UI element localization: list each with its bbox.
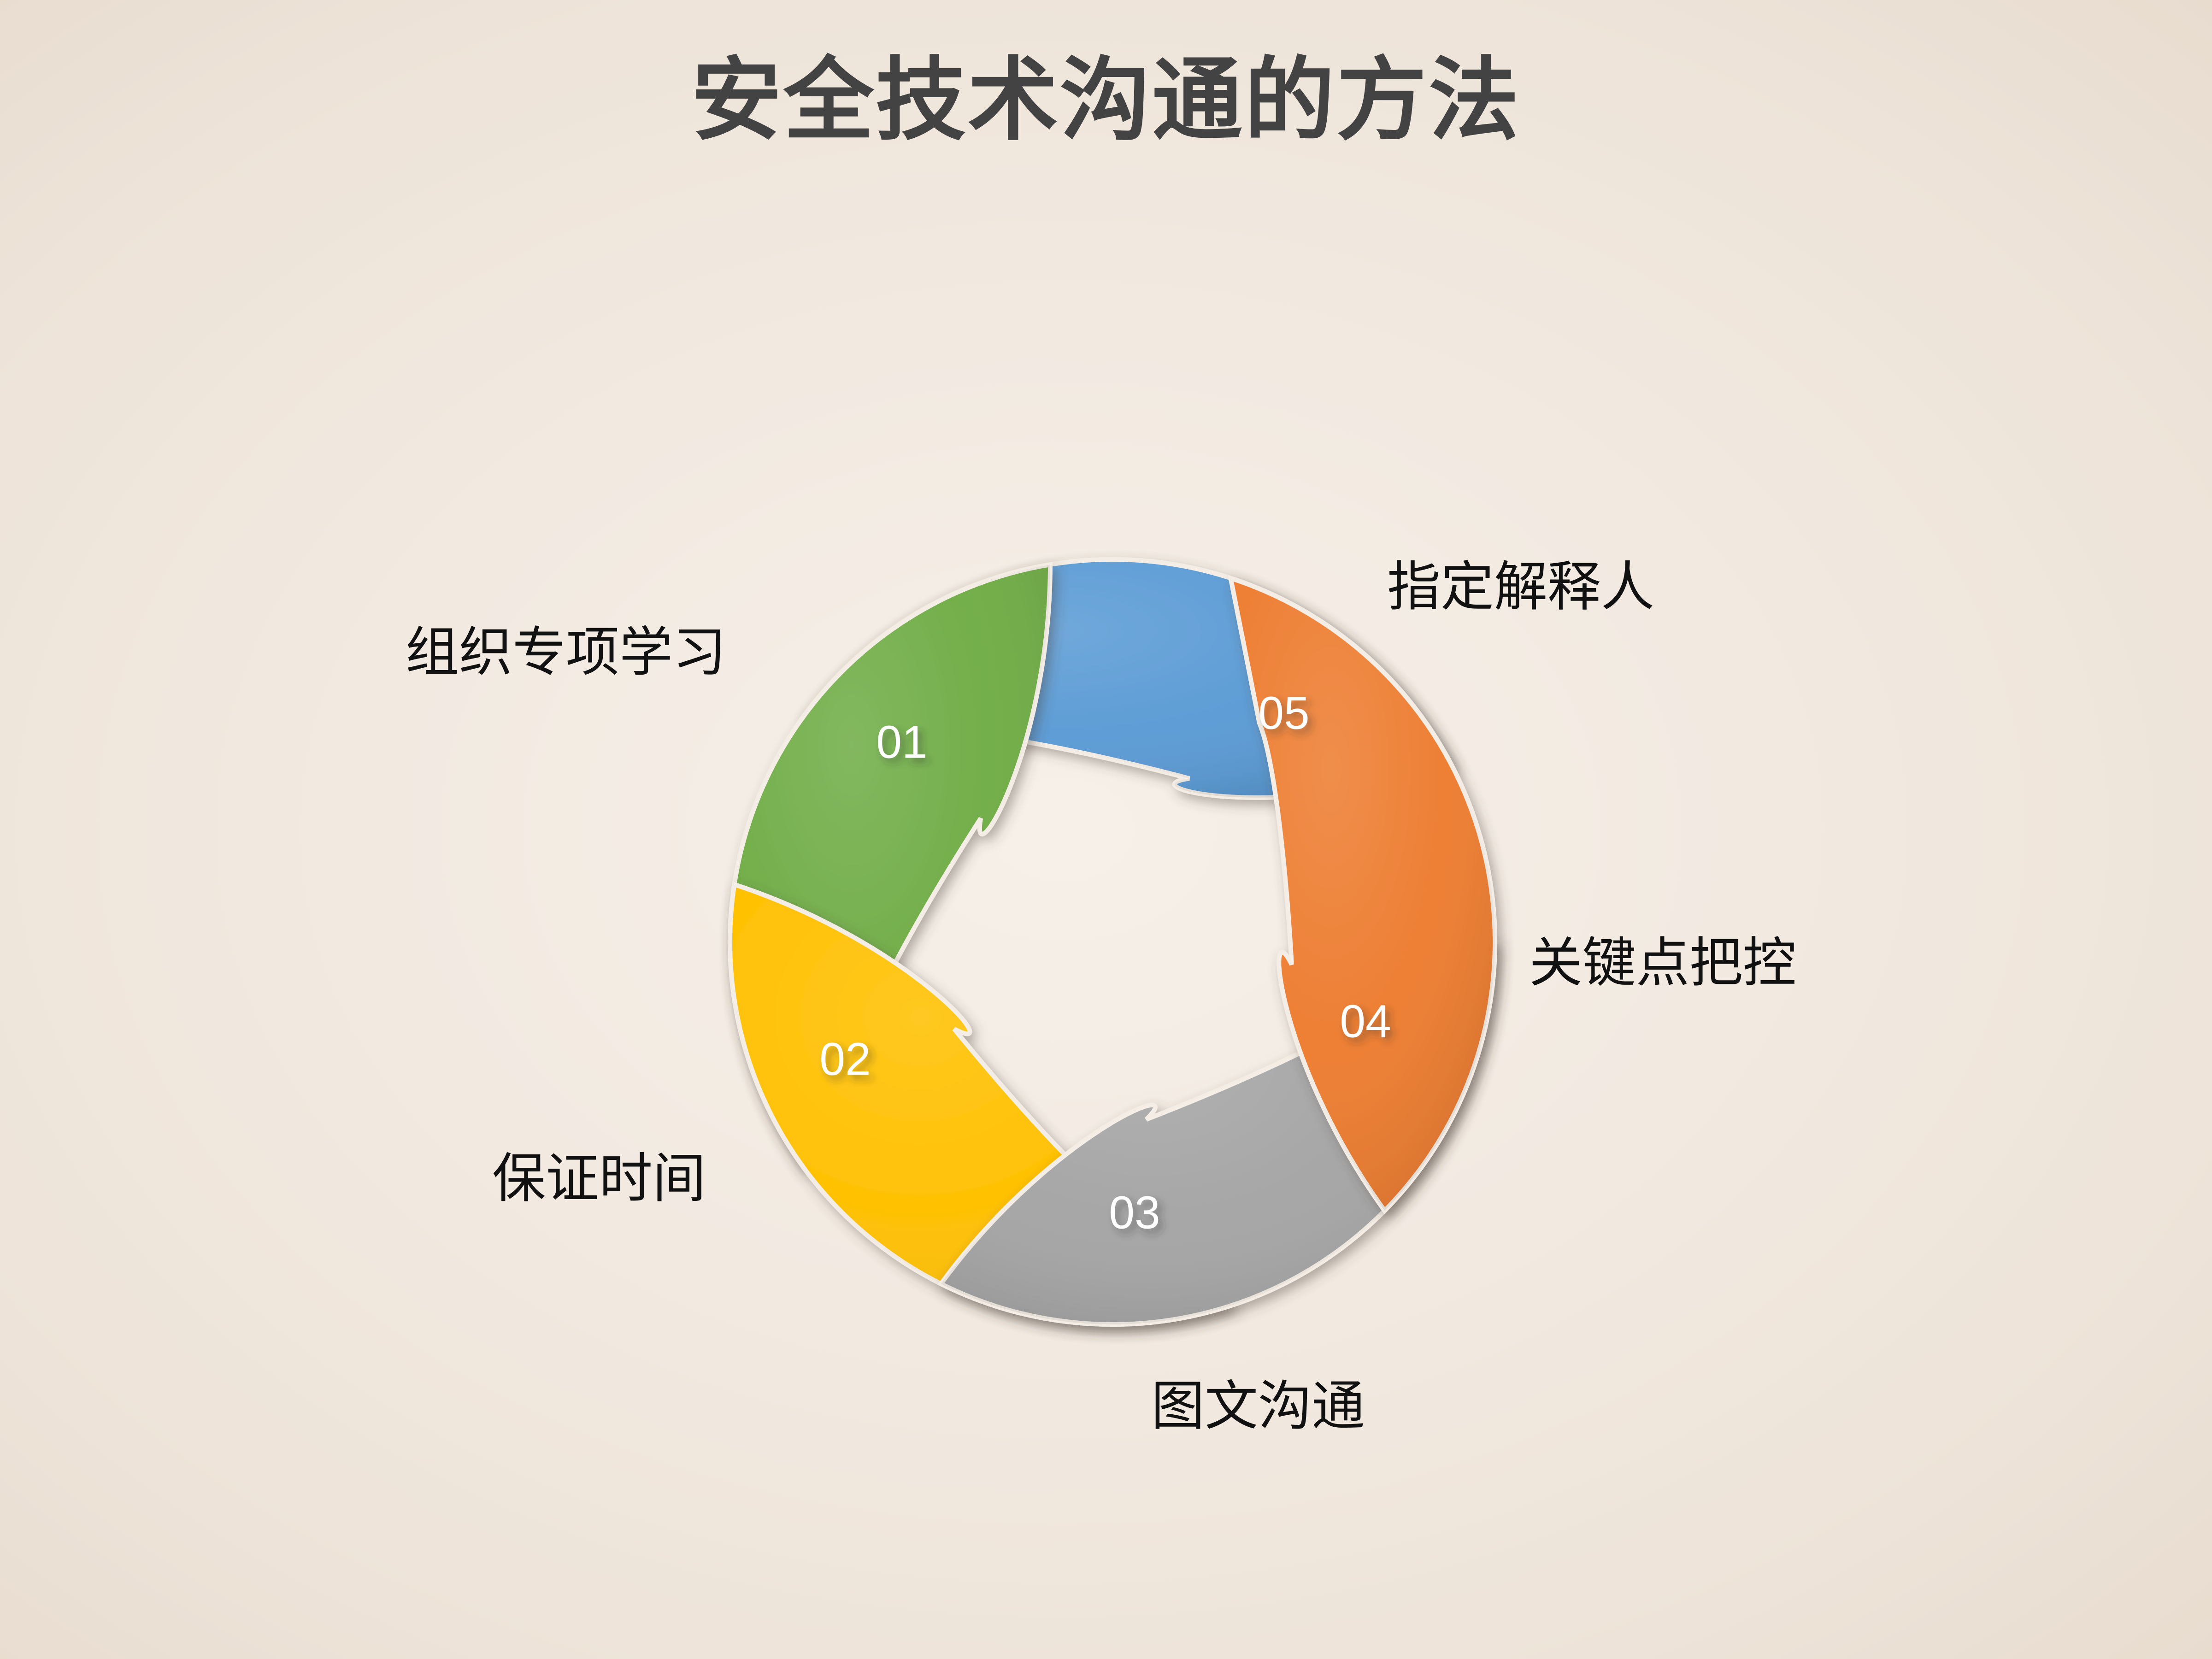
segment-label-05: 指定解释人 (1387, 558, 1654, 617)
page-title: 安全技术沟通的方法 (0, 53, 2212, 148)
segment-label-01: 组织专项学习 (406, 623, 726, 682)
segment-label-02: 保证时间 (492, 1149, 706, 1208)
pinwheel-diagram: 0102030405 (684, 513, 1541, 1371)
segment-number-04: 04 (1340, 995, 1391, 1047)
segment-number-01: 01 (876, 716, 927, 768)
segment-label-03: 图文沟通 (1151, 1377, 1365, 1436)
segment-number-02: 02 (819, 1033, 871, 1085)
pinwheel-svg: 0102030405 (684, 513, 1541, 1371)
segment-number-05: 05 (1258, 687, 1309, 739)
segment-label-04: 关键点把控 (1529, 934, 1796, 993)
segment-number-03: 03 (1109, 1187, 1160, 1238)
